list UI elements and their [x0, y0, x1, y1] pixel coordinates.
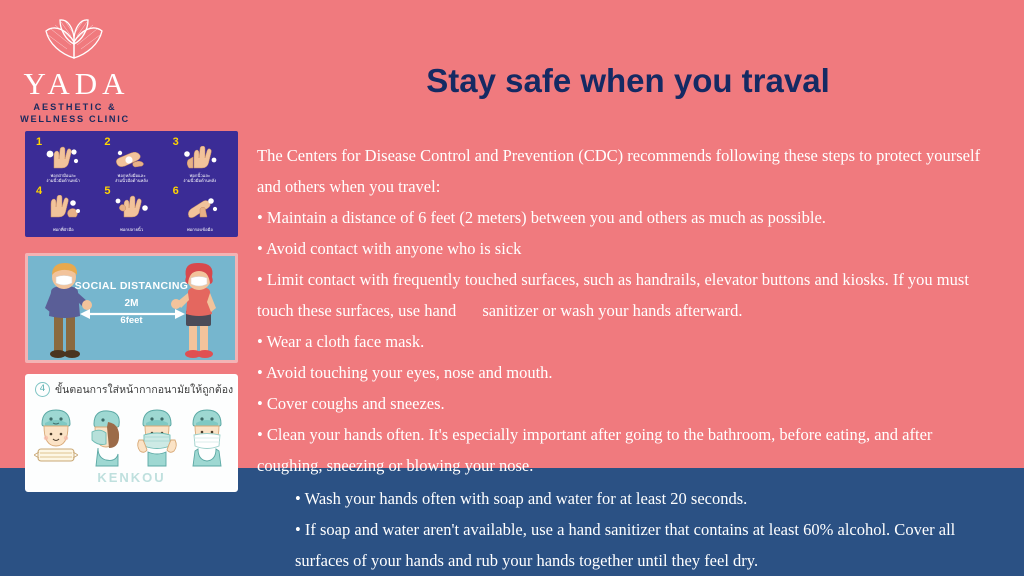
bullet-clean-hands-line-2: coughing, sneezing or blowing your nose.	[257, 450, 1007, 481]
step-number: 1	[36, 136, 42, 148]
logo-wordmark: YADA	[14, 68, 134, 99]
step-badge: 4	[35, 382, 50, 397]
mask-steps-image: 4 ขั้นตอนการใส่หน้ากากอนามัยให้ถูกต้อง	[25, 374, 238, 492]
hands-fingers-icon	[43, 195, 83, 219]
bullet-surfaces-text-a: touch these surfaces, use hand	[257, 301, 456, 320]
handwash-step: 1 ฟอกฝ่ามือและ ง่ามนิ้วมือด้านหน้า	[29, 135, 97, 184]
caption-line-2: ง่ามนิ้วมือด้านหลัง	[183, 178, 216, 183]
mask-step-side-icon	[84, 406, 128, 468]
step-caption: ฟอกปลายนิ้ว	[97, 227, 165, 232]
mask-steps-header: 4 ขั้นตอนการใส่หน้ากากอนามัยให้ถูกต้อง	[35, 381, 232, 398]
handwash-grid: 1 ฟอกฝ่ามือและ ง่ามนิ้วมือด้านหน้า 2	[29, 135, 234, 233]
bullet-surfaces-line-1: • Limit contact with frequently touched …	[257, 264, 1007, 295]
handwash-step: 3 ฟอกนิ้วและ ง่ามนิ้วมือด้านหลัง	[166, 135, 234, 184]
mask-step-hold-icon	[34, 406, 78, 468]
hands-palm-icon	[43, 146, 83, 170]
footer-text-block: • Wash your hands often with soap and wa…	[295, 483, 1010, 576]
caption-line-2: ง่ามนิ้วมือด้านหน้า	[46, 178, 80, 183]
caption-line-1: ฟอกปลายนิ้ว	[120, 227, 143, 232]
bullet-surfaces-text-b: sanitizer or wash your hands afterward.	[482, 301, 742, 320]
body-text-block: The Centers for Disease Control and Prev…	[257, 140, 1007, 481]
double-arrow-icon	[80, 308, 185, 320]
step-number: 4	[36, 185, 42, 197]
caption-line-2: ง่ามนิ้วมือด้านหลัง	[115, 178, 148, 183]
intro-line-2: and others when you travel:	[257, 171, 1007, 202]
handwash-step: 2 ฟอกหลังมือและ ง่ามนิ้วมือด้านหลัง	[97, 135, 165, 184]
social-distancing-scene: SOCIAL DISTANCING 2M 6feet	[28, 256, 235, 360]
mask-steps-row	[31, 404, 232, 468]
step-number: 5	[104, 185, 110, 197]
step-caption: ฟอกหลังมือและ ง่ามนิ้วมือด้านหลัง	[97, 173, 165, 183]
step-caption: ฟอกรอบข้อมือ	[166, 227, 234, 232]
mask-steps-scene: 4 ขั้นตอนการใส่หน้ากากอนามัยให้ถูกต้อง	[27, 376, 236, 490]
bullet-avoid-sick: • Avoid contact with anyone who is sick	[257, 233, 1007, 264]
logo-tagline-line1: AESTHETIC &	[14, 102, 134, 112]
bullet-surfaces-line-2: touch these surfaces, use handsanitizer …	[257, 295, 1007, 326]
handwash-step: 4 ฟอกที่ฝ่ามือ	[29, 184, 97, 233]
caption-line-1: ฟอกรอบข้อมือ	[187, 227, 213, 232]
hands-interlaced-icon	[180, 146, 220, 170]
step-caption: ฟอกฝ่ามือและ ง่ามนิ้วมือด้านหน้า	[29, 173, 97, 183]
bullet-distance: • Maintain a distance of 6 feet (2 meter…	[257, 202, 1007, 233]
logo-tagline-line2: WELLNESS CLINIC	[14, 114, 134, 124]
handwash-step: 5 ฟอกปลายนิ้ว	[97, 184, 165, 233]
hands-back-icon	[111, 146, 151, 170]
slide-canvas: YADA AESTHETIC & WELLNESS CLINIC Stay sa…	[0, 0, 1024, 576]
handwashing-steps-image: 1 ฟอกฝ่ามือและ ง่ามนิ้วมือด้านหน้า 2	[25, 131, 238, 237]
footer-bullet-sanitizer-line-1: • If soap and water aren't available, us…	[295, 514, 1010, 545]
step-number: 6	[173, 185, 179, 197]
footer-bullet-sanitizer-line-2: surfaces of your hands and rub your hand…	[295, 545, 1010, 576]
social-distancing-image: SOCIAL DISTANCING 2M 6feet	[25, 253, 238, 363]
step-caption: ฟอกนิ้วและ ง่ามนิ้วมือด้านหลัง	[166, 173, 234, 183]
hands-wrist-icon	[180, 195, 220, 219]
step-number: 3	[173, 136, 179, 148]
handwash-step: 6 ฟอกรอบข้อมือ	[166, 184, 234, 233]
intro-line-1: The Centers for Disease Control and Prev…	[257, 140, 1007, 171]
mask-step-wearing-icon	[185, 406, 229, 468]
footer-bullet-wash: • Wash your hands often with soap and wa…	[295, 483, 1010, 514]
hands-thumb-icon	[111, 195, 151, 219]
bullet-clean-hands-line-1: • Clean your hands often. It's especiall…	[257, 419, 1007, 450]
butterfly-leaf-icon	[31, 14, 117, 64]
bullet-avoid-touching: • Avoid touching your eyes, nose and mou…	[257, 357, 1007, 388]
step-caption: ฟอกที่ฝ่ามือ	[29, 227, 97, 232]
bullet-face-mask: • Wear a cloth face mask.	[257, 326, 1007, 357]
social-distancing-label: SOCIAL DISTANCING	[28, 280, 235, 292]
step-number: 2	[104, 136, 110, 148]
bullet-cover-coughs: • Cover coughs and sneezes.	[257, 388, 1007, 419]
brand-logo: YADA AESTHETIC & WELLNESS CLINIC	[14, 14, 134, 124]
mask-steps-title: ขั้นตอนการใส่หน้ากากอนามัยให้ถูกต้อง	[55, 381, 233, 398]
image-watermark: KENKOU	[27, 470, 236, 485]
mask-step-adjust-icon	[135, 406, 179, 468]
page-title: Stay safe when you traval	[258, 62, 998, 100]
caption-line-1: ฟอกที่ฝ่ามือ	[53, 227, 74, 232]
